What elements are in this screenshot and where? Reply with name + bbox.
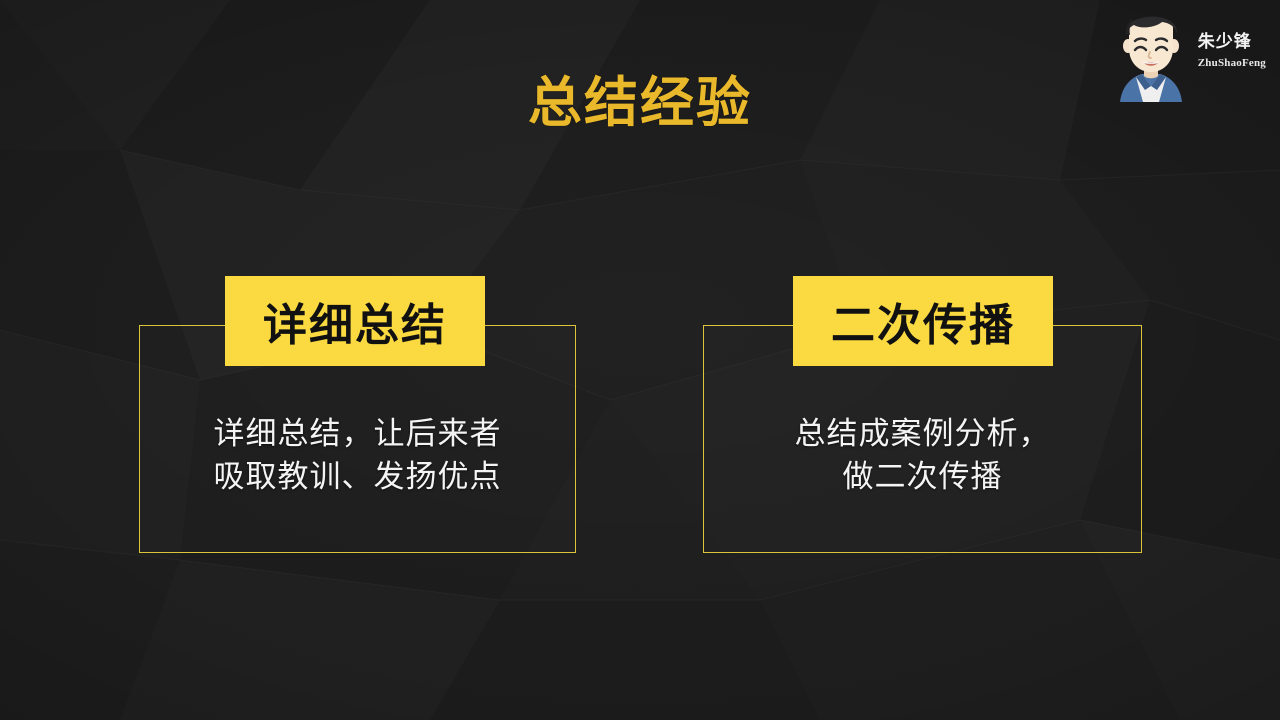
card-body-secondary-spread: 总结成案例分析， 做二次传播 xyxy=(704,412,1141,498)
avatar-name-cn: 朱少锋 xyxy=(1198,31,1252,53)
avatar-names: 朱少锋 ZhuShaoFeng xyxy=(1198,31,1266,77)
presentation-slide: 总结经验 xyxy=(0,0,1280,720)
page-title: 总结经验 xyxy=(0,72,1280,134)
card-header-detailed-summary: 详细总结 xyxy=(225,276,485,366)
card-header-secondary-spread: 二次传播 xyxy=(793,276,1053,366)
avatar-badge: 朱少锋 ZhuShaoFeng xyxy=(1112,6,1266,102)
card-body-detailed-summary: 详细总结，让后来者 吸取教训、发扬优点 xyxy=(140,412,575,498)
avatar-portrait-icon xyxy=(1112,6,1190,102)
card-secondary-spread: 二次传播 总结成案例分析， 做二次传播 xyxy=(703,325,1142,553)
avatar-name-en: ZhuShaoFeng xyxy=(1198,55,1266,71)
card-detailed-summary: 详细总结 详细总结，让后来者 吸取教训、发扬优点 xyxy=(139,325,576,553)
